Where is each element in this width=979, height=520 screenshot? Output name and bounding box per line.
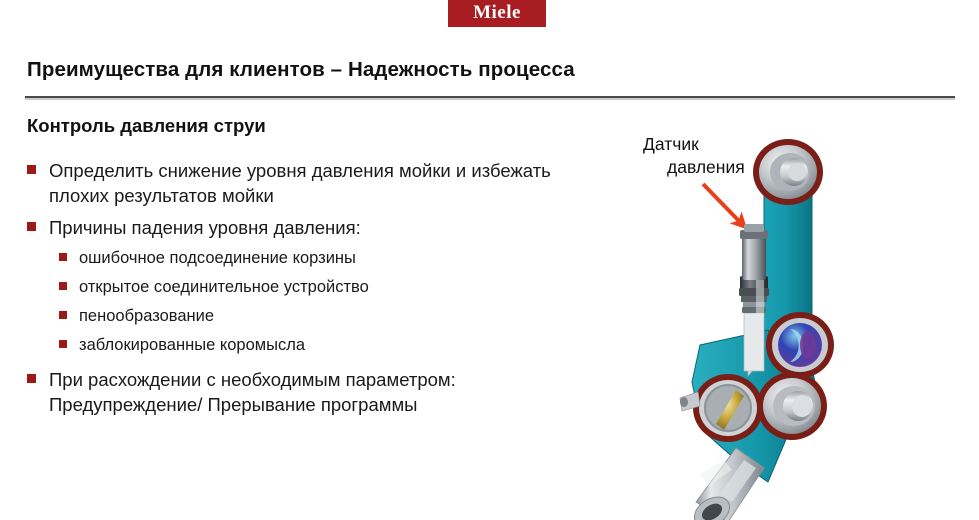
pressure-sensor-manifold-render xyxy=(640,130,920,520)
bullet-marker-icon xyxy=(59,282,67,290)
list-item: При расхождении с необходимым параметром… xyxy=(27,367,587,417)
list-item-label: При расхождении с необходимым параметром… xyxy=(49,367,587,417)
list-item: открытое соединительное устройство xyxy=(59,276,587,299)
list-item-label: ошибочное подсоединение корзины xyxy=(79,247,356,270)
list-item-label: открытое соединительное устройство xyxy=(79,276,369,299)
list-item-label: заблокированные коромысла xyxy=(79,334,305,357)
list-item-label: Определить снижение уровня давления мойк… xyxy=(49,158,587,208)
section-subtitle: Контроль давления струи xyxy=(27,115,266,137)
bullet-marker-icon xyxy=(59,311,67,319)
list-item: пенообразование xyxy=(59,305,587,328)
list-item: ошибочное подсоединение корзины xyxy=(59,247,587,270)
list-item-label: Причины падения уровня давления: xyxy=(49,215,361,240)
page-title: Преимущества для клиентов – Надежность п… xyxy=(27,58,575,82)
list-item-label: пенообразование xyxy=(79,305,214,328)
title-divider-shadow xyxy=(25,98,955,100)
bullet-list: Определить снижение уровня давления мойк… xyxy=(27,158,587,424)
bullet-marker-icon xyxy=(27,222,36,231)
miele-logo-text: Miele xyxy=(473,3,521,22)
miele-logo: Miele xyxy=(448,0,546,27)
bullet-marker-icon xyxy=(59,253,67,261)
bullet-marker-icon xyxy=(27,374,36,383)
bullet-marker-icon xyxy=(27,165,36,174)
list-item: заблокированные коромысла xyxy=(59,334,587,357)
list-item: Причины падения уровня давления: xyxy=(27,215,587,240)
list-item: Определить снижение уровня давления мойк… xyxy=(27,158,587,208)
bullet-marker-icon xyxy=(59,340,67,348)
